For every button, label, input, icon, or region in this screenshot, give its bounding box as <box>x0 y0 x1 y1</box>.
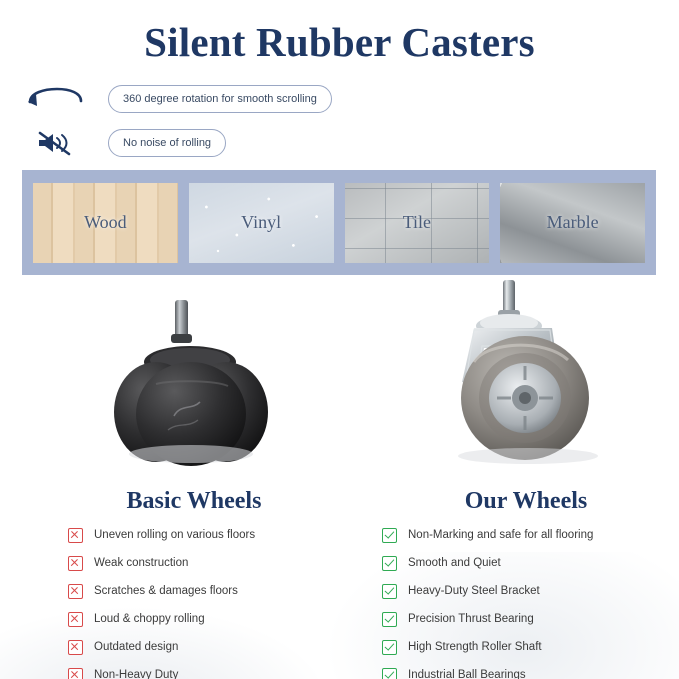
heading-our-wheels: Our Wheels <box>396 488 656 515</box>
list-item: Industrial Ball Bearings <box>382 662 679 679</box>
list-item-label: Non-Heavy Duty <box>94 669 178 679</box>
list-item-label: Heavy-Duty Steel Bracket <box>408 585 540 597</box>
check-icon <box>382 556 397 571</box>
list-item: Non-Heavy Duty <box>68 662 368 679</box>
list-basic-wheels: Uneven rolling on various floors Weak co… <box>68 522 368 679</box>
cross-icon <box>68 584 83 599</box>
floor-label-wood: Wood <box>84 212 127 233</box>
list-item-label: High Strength Roller Shaft <box>408 641 542 653</box>
basic-wheel-photo <box>96 284 286 479</box>
rotation-360-icon: 360° <box>22 82 88 116</box>
floor-types-strip: Wood Vinyl Tile Marble <box>22 170 656 275</box>
list-item-label: Non-Marking and safe for all flooring <box>408 529 593 541</box>
list-item: Scratches & damages floors <box>68 578 368 604</box>
check-icon <box>382 612 397 627</box>
floor-label-marble: Marble <box>547 212 599 233</box>
check-icon <box>382 668 397 679</box>
floor-sample-tile: Tile <box>345 183 490 263</box>
heading-basic-wheels: Basic Wheels <box>64 488 324 515</box>
product-photos <box>0 276 679 481</box>
list-item-label: Scratches & damages floors <box>94 585 238 597</box>
floor-label-tile: Tile <box>403 212 431 233</box>
feature-pill-noise: No noise of rolling <box>108 129 226 157</box>
cross-icon <box>68 556 83 571</box>
list-item-label: Loud & choppy rolling <box>94 613 205 625</box>
list-item: Weak construction <box>68 550 368 576</box>
floor-sample-vinyl: Vinyl <box>189 183 334 263</box>
mute-speaker-icon <box>22 128 88 158</box>
list-item-label: Precision Thrust Bearing <box>408 613 534 625</box>
floor-label-vinyl: Vinyl <box>241 212 281 233</box>
feature-row-360: 360° 360 degree rotation for smooth scro… <box>22 82 332 116</box>
feature-pill-360: 360 degree rotation for smooth scrolling <box>108 85 332 113</box>
check-icon <box>382 528 397 543</box>
floor-sample-marble: Marble <box>500 183 645 263</box>
our-wheel-photo <box>440 276 640 481</box>
feature-pill-360-label: 360 degree rotation for smooth scrolling <box>123 93 317 105</box>
list-item: Outdated design <box>68 634 368 660</box>
floor-sample-wood: Wood <box>33 183 178 263</box>
list-item: Precision Thrust Bearing <box>382 606 679 632</box>
feature-row-noise: No noise of rolling <box>22 128 226 158</box>
list-item-label: Uneven rolling on various floors <box>94 529 255 541</box>
cross-icon <box>68 612 83 627</box>
cross-icon <box>68 640 83 655</box>
list-item-label: Outdated design <box>94 641 178 653</box>
list-item-label: Industrial Ball Bearings <box>408 669 526 679</box>
list-item: Heavy-Duty Steel Bracket <box>382 578 679 604</box>
list-item-label: Weak construction <box>94 557 188 569</box>
list-item-label: Smooth and Quiet <box>408 557 501 569</box>
list-item: Smooth and Quiet <box>382 550 679 576</box>
poster-page: Silent Rubber Casters 360° 360 degree ro… <box>0 0 679 679</box>
feature-pill-noise-label: No noise of rolling <box>123 137 211 149</box>
list-item: Non-Marking and safe for all flooring <box>382 522 679 548</box>
check-icon <box>382 584 397 599</box>
page-title: Silent Rubber Casters <box>0 18 679 66</box>
check-icon <box>382 640 397 655</box>
list-item: High Strength Roller Shaft <box>382 634 679 660</box>
list-our-wheels: Non-Marking and safe for all flooring Sm… <box>382 522 679 679</box>
cross-icon <box>68 668 83 679</box>
list-item: Loud & choppy rolling <box>68 606 368 632</box>
list-item: Uneven rolling on various floors <box>68 522 368 548</box>
cross-icon <box>68 528 83 543</box>
